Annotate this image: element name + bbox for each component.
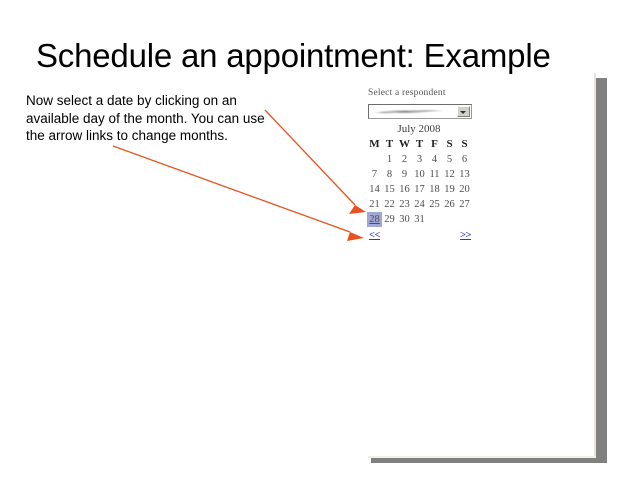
respondent-label: Select a respondent [368,88,479,98]
weekday-header-row: M T W T F S S [367,137,472,152]
calendar-day-cell [457,212,472,227]
prev-month-link[interactable]: << [369,230,380,241]
calendar-nav: << >> [367,230,472,244]
calendar-day-cell[interactable]: 1 [382,152,397,167]
calendar-day-cell [427,212,442,227]
calendar-day-cell[interactable]: 7 [367,167,382,182]
calendar-day-cell[interactable]: 10 [412,167,427,182]
calendar-week-row: 7 8 9 10 11 12 13 [367,167,472,182]
calendar-day-cell [367,152,382,167]
instruction-text: Now select a date by clicking on an avai… [26,92,270,145]
annotation-arrow-to-month-links-head [347,232,364,241]
calendar-day-cell[interactable]: 26 [442,197,457,212]
calendar-week-row: 28 29 30 31 [367,212,472,227]
calendar-day-cell[interactable]: 31 [412,212,427,227]
weekday-header: F [427,137,442,152]
calendar-widget: Select a respondent July 2008 M T W T F … [367,88,479,244]
calendar-day-cell[interactable]: 23 [397,197,412,212]
calendar-week-row: 21 22 23 24 25 26 27 [367,197,472,212]
calendar-day-cell[interactable]: 25 [427,197,442,212]
weekday-header: T [412,137,427,152]
weekday-header: S [457,137,472,152]
calendar-day-cell[interactable]: 22 [382,197,397,212]
weekday-header: W [397,137,412,152]
calendar-day-cell[interactable]: 16 [397,182,412,197]
calendar-day-cell[interactable]: 30 [397,212,412,227]
calendar-day-cell[interactable]: 18 [427,182,442,197]
calendar-day-cell[interactable]: 4 [427,152,442,167]
slide-canvas: Schedule an appointment: Example Now sel… [0,0,640,480]
calendar-day-cell[interactable]: 3 [412,152,427,167]
calendar-day-cell[interactable]: 5 [442,152,457,167]
respondent-select[interactable] [368,104,472,119]
respondent-selected-value [371,106,455,117]
annotation-arrow-to-month-links-line [113,146,350,232]
annotation-arrow-to-day-grid-head [349,205,366,214]
calendar-day-cell[interactable]: 17 [412,182,427,197]
calendar-day-grid: M T W T F S S 1 2 3 4 5 6 [367,137,472,227]
content-frame-right-shadow [596,78,607,463]
calendar-day-cell[interactable]: 21 [367,197,382,212]
calendar-day-cell[interactable]: 15 [382,182,397,197]
calendar-day-cell[interactable]: 12 [442,167,457,182]
calendar-day-cell[interactable]: 14 [367,182,382,197]
calendar-month-title: July 2008 [367,123,471,135]
page-title: Schedule an appointment: Example [36,36,616,76]
content-frame-bottom-shadow [371,458,607,463]
next-month-link[interactable]: >> [460,230,471,241]
calendar-day-cell[interactable]: 9 [397,167,412,182]
calendar-day-cell[interactable]: 11 [427,167,442,182]
calendar-day-cell[interactable]: 20 [457,182,472,197]
weekday-header: S [442,137,457,152]
calendar-day-cell[interactable]: 8 [382,167,397,182]
calendar-day-cell[interactable]: 24 [412,197,427,212]
calendar-week-row: 1 2 3 4 5 6 [367,152,472,167]
chevron-down-icon[interactable] [457,106,470,117]
calendar-day-cell[interactable]: 27 [457,197,472,212]
calendar-day-cell[interactable]: 29 [382,212,397,227]
calendar-day-cell[interactable]: 6 [457,152,472,167]
calendar-day-cell[interactable]: 19 [442,182,457,197]
calendar-week-row: 14 15 16 17 18 19 20 [367,182,472,197]
weekday-header: M [367,137,382,152]
annotation-arrow-to-day-grid-line [265,110,355,205]
calendar-day-cell[interactable]: 13 [457,167,472,182]
calendar-day-cell-selected[interactable]: 28 [367,212,382,227]
weekday-header: T [382,137,397,152]
calendar-day-cell [442,212,457,227]
calendar-day-cell[interactable]: 2 [397,152,412,167]
